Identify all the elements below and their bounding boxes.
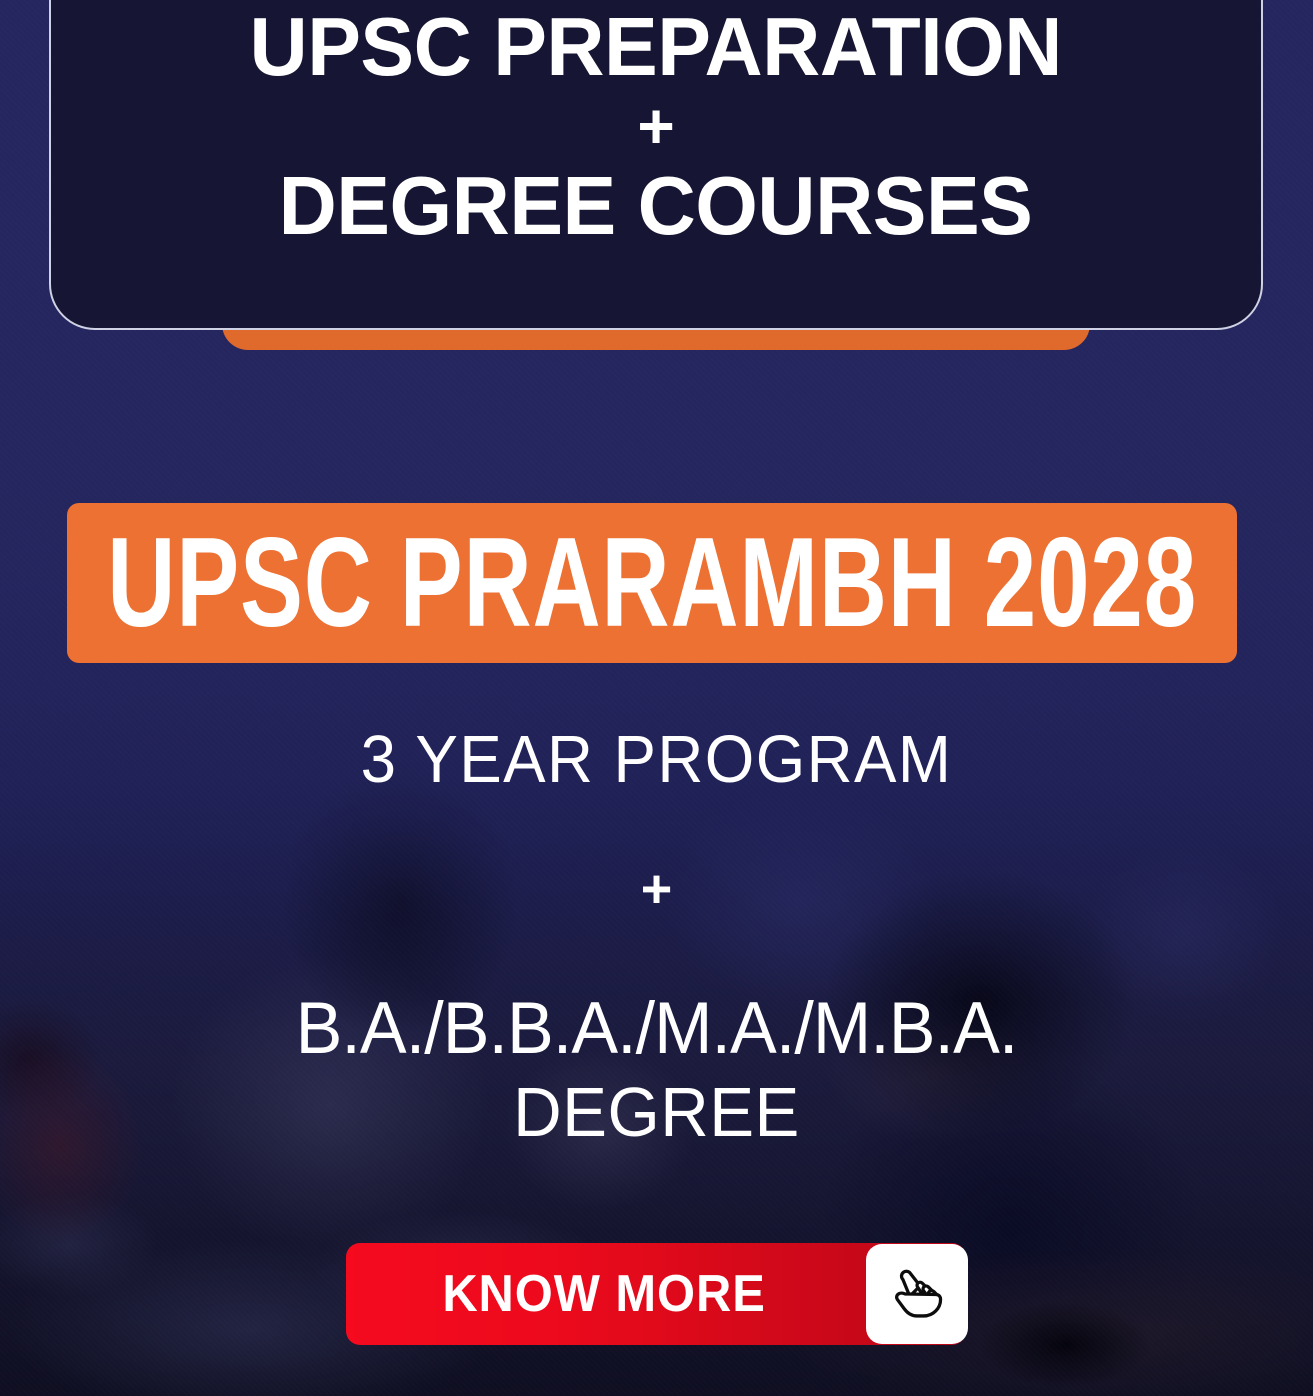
promo-banner: UPSC PREPARATION + DEGREE COURSES UPSC P… (0, 0, 1313, 1396)
headline-panel: UPSC PREPARATION + DEGREE COURSES (49, 0, 1263, 330)
degree-text-block: B.A./B.B.A./M.A./M.B.A. DEGREE (0, 990, 1313, 1150)
degree-list-line: B.A./B.B.A./M.A./M.B.A. (26, 990, 1286, 1067)
know-more-label: KNOW MORE (442, 1268, 765, 1320)
program-plus-symbol: + (0, 862, 1313, 916)
headline-section: UPSC PREPARATION + DEGREE COURSES (0, 0, 1313, 390)
headline-line-2: DEGREE COURSES (279, 164, 1033, 249)
degree-word-line: DEGREE (26, 1075, 1286, 1149)
headline-line-1: UPSC PREPARATION (250, 5, 1062, 90)
pointing-hand-cursor-icon[interactable] (866, 1244, 968, 1344)
program-duration-text: 3 YEAR PROGRAM (33, 726, 1280, 793)
know-more-button[interactable]: KNOW MORE (346, 1243, 966, 1345)
course-name-title: UPSC PRARAMBH 2028 (107, 519, 1197, 646)
headline-plus-symbol: + (637, 94, 674, 158)
course-name-banner: UPSC PRARAMBH 2028 (67, 503, 1237, 663)
